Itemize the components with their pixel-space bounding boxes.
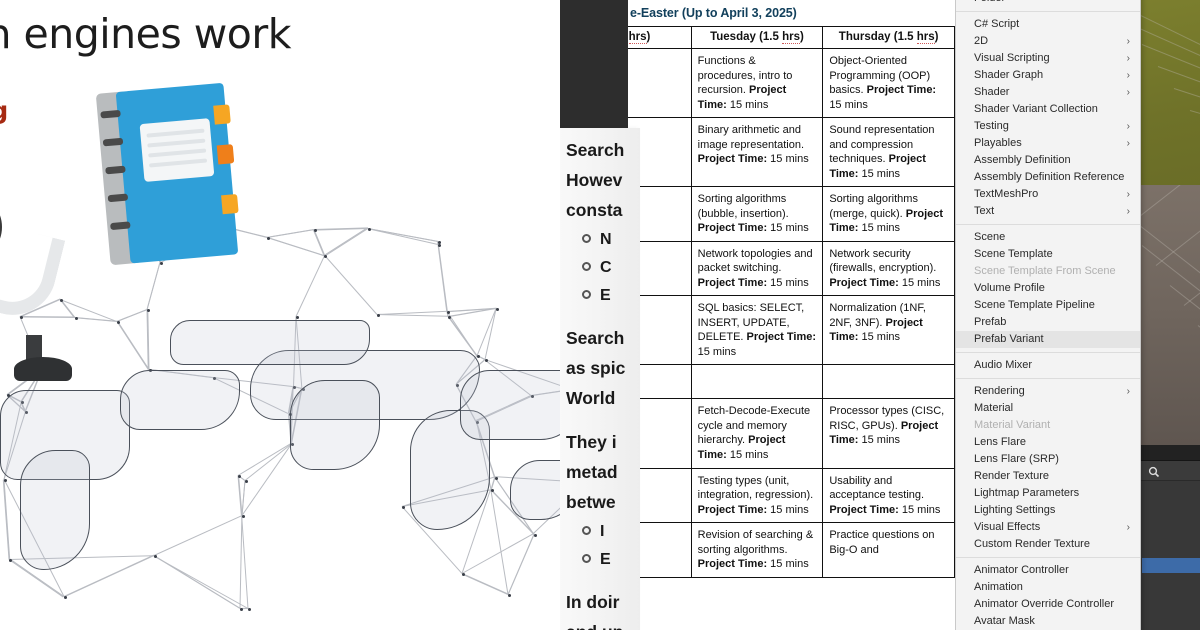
menu-item-label: Shader bbox=[974, 86, 1009, 98]
menu-item-textmeshpro[interactable]: TextMeshPro› bbox=[956, 186, 1140, 203]
unity-scene-ground bbox=[1140, 185, 1200, 445]
menu-item-volume-profile[interactable]: Volume Profile bbox=[956, 280, 1140, 297]
table-row: ems:an.i minsFetch-Decode-Execute cycle … bbox=[628, 399, 955, 468]
network-edge bbox=[324, 228, 368, 256]
map-landmass bbox=[20, 450, 90, 570]
search-icon[interactable] bbox=[1148, 465, 1160, 477]
table-cell: Network security (firewalls, encryption)… bbox=[823, 241, 955, 296]
menu-item-label: Scene Template bbox=[974, 248, 1053, 260]
table-cell: Object-Oriented Programming (OOP) basics… bbox=[823, 49, 955, 118]
scene-grid-line bbox=[1174, 88, 1200, 129]
menu-item-label: Scene Template From Scene bbox=[974, 265, 1116, 277]
menu-item-testing[interactable]: Testing› bbox=[956, 118, 1140, 135]
table-cell: Sorting algorithms (merge, quick). Proje… bbox=[823, 187, 955, 242]
chevron-right-icon: › bbox=[1127, 135, 1130, 152]
network-node bbox=[377, 314, 380, 317]
network-node bbox=[160, 262, 163, 265]
menu-separator bbox=[956, 557, 1140, 558]
menu-item-label: Material Variant bbox=[974, 419, 1050, 431]
table-cell: Usability and acceptance testing. Projec… bbox=[823, 468, 955, 523]
network-edge bbox=[153, 555, 240, 609]
schedule-document-pane: e-Easter (Up to April 3, 2025) i hrs)Tue… bbox=[628, 0, 955, 630]
map-landmass bbox=[460, 370, 560, 440]
scene-grid-line bbox=[1140, 0, 1200, 58]
network-node bbox=[4, 479, 7, 482]
menu-item-label: Animator Override Controller bbox=[974, 598, 1114, 610]
network-node bbox=[447, 311, 450, 314]
table-cell: SQL basics: SELECT, INSERT, UPDATE, DELE… bbox=[691, 296, 823, 365]
menu-item-assembly-definition[interactable]: Assembly Definition bbox=[956, 152, 1140, 169]
network-edge bbox=[153, 515, 242, 556]
table-cell: Testing types (unit, integration, regres… bbox=[691, 468, 823, 523]
menu-item-avatar-mask[interactable]: Avatar Mask bbox=[956, 613, 1140, 630]
scene-grid-line bbox=[1142, 245, 1200, 332]
menu-item-scene-template-from-scene: Scene Template From Scene bbox=[956, 263, 1140, 280]
network-node bbox=[314, 229, 317, 232]
scene-grid-line bbox=[1140, 185, 1200, 186]
table-cell: Normalization (1NF, 2NF, 3NF). Project T… bbox=[823, 296, 955, 365]
menu-item-scene-template-pipeline[interactable]: Scene Template Pipeline bbox=[956, 297, 1140, 314]
menu-item-label: Assembly Definition Reference bbox=[974, 171, 1124, 183]
network-edge bbox=[147, 263, 161, 310]
menu-item-render-texture[interactable]: Render Texture bbox=[956, 468, 1140, 485]
menu-item-label: Scene Template Pipeline bbox=[974, 299, 1095, 311]
table-row: WAN,P, HTTP).i minsNetwork topologies an… bbox=[628, 241, 955, 296]
slide-title: rch engines work bbox=[0, 10, 291, 58]
menu-item-scene-template[interactable]: Scene Template bbox=[956, 246, 1140, 263]
network-edge bbox=[324, 255, 377, 315]
menu-item-custom-render-texture[interactable]: Custom Render Texture bbox=[956, 536, 1140, 553]
network-edge bbox=[241, 515, 248, 608]
menu-item-folder[interactable]: Folder bbox=[956, 0, 1140, 7]
network-edge bbox=[267, 237, 324, 256]
chevron-right-icon: › bbox=[1127, 203, 1130, 220]
network-node bbox=[248, 608, 251, 611]
menu-item-label: Material bbox=[974, 402, 1013, 414]
scene-grid-line bbox=[1190, 110, 1200, 147]
chevron-right-icon: › bbox=[1127, 118, 1130, 135]
table-cell: Revision of searching & sorting algorith… bbox=[691, 523, 823, 578]
menu-item-prefab-variant[interactable]: Prefab Variant bbox=[956, 331, 1140, 348]
table-row: rchingr, binary).i minsSorting algorithm… bbox=[628, 187, 955, 242]
map-landmass bbox=[510, 460, 560, 520]
network-edge bbox=[64, 555, 154, 597]
network-node bbox=[267, 237, 270, 240]
chevron-right-icon: › bbox=[1127, 50, 1130, 67]
menu-item-2d[interactable]: 2D› bbox=[956, 33, 1140, 50]
table-cell: Practice questions on Big-O and bbox=[823, 523, 955, 578]
table-row: ncy andRevision of searching & sorting a… bbox=[628, 523, 955, 578]
menu-item-audio-mixer[interactable]: Audio Mixer bbox=[956, 357, 1140, 374]
notebook-label bbox=[140, 118, 215, 182]
unity-selected-asset-row[interactable] bbox=[1142, 558, 1200, 573]
chevron-right-icon: › bbox=[1127, 519, 1130, 536]
table-header-row: i hrs)Tuesday (1.5 hrs)Thursday (1.5 hrs… bbox=[628, 27, 955, 49]
table-cell bbox=[823, 365, 955, 399]
network-node bbox=[64, 596, 67, 599]
chevron-right-icon: › bbox=[1127, 186, 1130, 203]
menu-item-material[interactable]: Material bbox=[956, 400, 1140, 417]
scene-grid-line bbox=[1140, 205, 1200, 292]
table-row: s,keys.i minsSQL basics: SELECT, INSERT,… bbox=[628, 296, 955, 365]
unity-project-toolbar[interactable] bbox=[1140, 445, 1200, 461]
network-node bbox=[508, 594, 511, 597]
unity-create-context-menu[interactable]: FolderC# Script2D›Visual Scripting›Shade… bbox=[955, 0, 1141, 630]
menu-item-label: Shader Graph bbox=[974, 69, 1043, 81]
table-row: Reviseience,on).i minsFunctions & proced… bbox=[628, 49, 955, 118]
magnifier-illustration bbox=[0, 120, 140, 320]
menu-item-label: Folder bbox=[974, 0, 1005, 4]
menu-item-lighting-settings[interactable]: Lighting Settings bbox=[956, 502, 1140, 519]
network-node bbox=[154, 555, 157, 558]
network-edge bbox=[241, 444, 291, 516]
menu-item-visual-effects[interactable]: Visual Effects› bbox=[956, 519, 1140, 536]
unity-project-list[interactable] bbox=[1140, 481, 1200, 630]
table-cell: Network topologies and packet switching.… bbox=[691, 241, 823, 296]
screenshot-root: FolderC# Script2D›Visual Scripting›Shade… bbox=[0, 0, 1200, 630]
table-cell bbox=[691, 365, 823, 399]
network-node bbox=[240, 608, 243, 611]
menu-separator bbox=[956, 11, 1140, 12]
menu-item-label: Lightmap Parameters bbox=[974, 487, 1079, 499]
menu-item-label: Lens Flare (SRP) bbox=[974, 453, 1059, 465]
chevron-right-icon: › bbox=[1127, 84, 1130, 101]
menu-item-label: C# Script bbox=[974, 18, 1019, 30]
menu-item-label: Text bbox=[974, 205, 994, 217]
menu-item-material-variant: Material Variant bbox=[956, 417, 1140, 434]
network-node bbox=[402, 506, 405, 509]
menu-item-label: Prefab Variant bbox=[974, 333, 1044, 345]
schedule-title: e-Easter (Up to April 3, 2025) bbox=[628, 0, 955, 26]
menu-item-label: TextMeshPro bbox=[974, 188, 1038, 200]
menu-item-label: Custom Render Texture bbox=[974, 538, 1090, 550]
network-node bbox=[9, 559, 12, 562]
network-edge bbox=[462, 573, 508, 594]
table-cell: Sound representation and compression tec… bbox=[823, 118, 955, 187]
menu-item-c-script[interactable]: C# Script bbox=[956, 16, 1140, 33]
menu-item-label: Playables bbox=[974, 137, 1022, 149]
table-column-header: Tuesday (1.5 hrs) bbox=[691, 27, 823, 49]
menu-item-label: Avatar Mask bbox=[974, 615, 1035, 627]
menu-item-label: Animator Controller bbox=[974, 564, 1069, 576]
chevron-right-icon: › bbox=[1127, 67, 1130, 84]
menu-item-label: Prefab bbox=[974, 316, 1006, 328]
chevron-right-icon: › bbox=[1127, 33, 1130, 50]
network-node bbox=[534, 534, 537, 537]
table-cell: Sorting algorithms (bubble, insertion). … bbox=[691, 187, 823, 242]
table-cell: Fetch-Decode-Execute cycle and memory hi… bbox=[691, 399, 823, 468]
menu-item-rendering[interactable]: Rendering› bbox=[956, 383, 1140, 400]
network-edge bbox=[117, 321, 149, 370]
menu-item-label: Rendering bbox=[974, 385, 1025, 397]
scene-grid-line bbox=[1170, 285, 1200, 372]
menu-item-label: Visual Effects bbox=[974, 521, 1040, 533]
menu-item-shader-graph[interactable]: Shader Graph› bbox=[956, 67, 1140, 84]
network-node bbox=[147, 309, 150, 312]
menu-item-text[interactable]: Text› bbox=[956, 203, 1140, 220]
table-column-header: Thursday (1.5 hrs) bbox=[823, 27, 955, 49]
network-node bbox=[438, 244, 441, 247]
menu-item-assembly-definition-reference[interactable]: Assembly Definition Reference bbox=[956, 169, 1140, 186]
network-edge bbox=[367, 228, 438, 245]
menu-item-label: Assembly Definition bbox=[974, 154, 1071, 166]
scene-grid-line bbox=[1140, 185, 1200, 226]
magnifier-arm bbox=[0, 222, 65, 324]
menu-item-animator-override-controller[interactable]: Animator Override Controller bbox=[956, 596, 1140, 613]
table-cell: Reviseience,on).i mins bbox=[628, 49, 691, 118]
menu-item-label: Animation bbox=[974, 581, 1023, 593]
menu-item-label: Scene bbox=[974, 231, 1005, 243]
menu-item-label: 2D bbox=[974, 35, 988, 47]
menu-item-scene[interactable]: Scene bbox=[956, 229, 1140, 246]
table-cell: Binary arithmetic and image representati… bbox=[691, 118, 823, 187]
map-landmass bbox=[290, 380, 380, 470]
network-edge bbox=[377, 314, 448, 317]
table-row: ‹ bbox=[628, 365, 955, 399]
map-landmass bbox=[120, 370, 240, 430]
network-node bbox=[245, 480, 248, 483]
magnifier-base bbox=[14, 357, 72, 381]
menu-item-lightmap-parameters[interactable]: Lightmap Parameters bbox=[956, 485, 1140, 502]
menu-item-visual-scripting[interactable]: Visual Scripting› bbox=[956, 50, 1140, 67]
menu-item-shader-variant-collection[interactable]: Shader Variant Collection bbox=[956, 101, 1140, 118]
network-node bbox=[242, 515, 245, 518]
schedule-table: i hrs)Tuesday (1.5 hrs)Thursday (1.5 hrs… bbox=[628, 26, 955, 578]
menu-separator bbox=[956, 378, 1140, 379]
menu-item-label: Volume Profile bbox=[974, 282, 1045, 294]
map-landmass bbox=[170, 320, 370, 365]
network-node bbox=[495, 477, 498, 480]
menu-item-playables[interactable]: Playables› bbox=[956, 135, 1140, 152]
menu-item-label: Visual Scripting bbox=[974, 52, 1050, 64]
unity-scene-sky bbox=[1140, 0, 1200, 190]
menu-separator bbox=[956, 224, 1140, 225]
table-row: opment:dologiesProjectTesting types (uni… bbox=[628, 468, 955, 523]
menu-item-prefab[interactable]: Prefab bbox=[956, 314, 1140, 331]
network-node bbox=[296, 316, 299, 319]
menu-item-lens-flare-srp[interactable]: Lens Flare (SRP) bbox=[956, 451, 1140, 468]
chevron-right-icon: › bbox=[1127, 383, 1130, 400]
menu-item-label: Audio Mixer bbox=[974, 359, 1032, 371]
table-column-header: i hrs) bbox=[628, 27, 691, 49]
network-node bbox=[117, 321, 120, 324]
menu-item-animation[interactable]: Animation bbox=[956, 579, 1140, 596]
menu-item-label: Shader Variant Collection bbox=[974, 103, 1098, 115]
menu-item-label: Lighting Settings bbox=[974, 504, 1055, 516]
table-row: ation:mal, andme: 15Binary arithmetic an… bbox=[628, 118, 955, 187]
menu-item-label: Lens Flare bbox=[974, 436, 1026, 448]
network-edge bbox=[507, 534, 534, 594]
table-cell: Processor types (CISC, RISC, GPUs). Proj… bbox=[823, 399, 955, 468]
slide-subtitle: ing bbox=[0, 96, 8, 125]
menu-item-lens-flare[interactable]: Lens Flare bbox=[956, 434, 1140, 451]
menu-item-shader[interactable]: Shader› bbox=[956, 84, 1140, 101]
network-edge bbox=[295, 255, 325, 317]
menu-item-animator-controller[interactable]: Animator Controller bbox=[956, 562, 1140, 579]
menu-item-label: Render Texture bbox=[974, 470, 1049, 482]
menu-item-label: Testing bbox=[974, 120, 1009, 132]
menu-separator bbox=[956, 352, 1140, 353]
network-node bbox=[496, 308, 499, 311]
network-edge bbox=[267, 229, 314, 238]
table-cell: Functions & procedures, intro to recursi… bbox=[691, 49, 823, 118]
presentation-slide: rch engines work ing bbox=[0, 0, 560, 630]
network-node bbox=[368, 228, 371, 231]
